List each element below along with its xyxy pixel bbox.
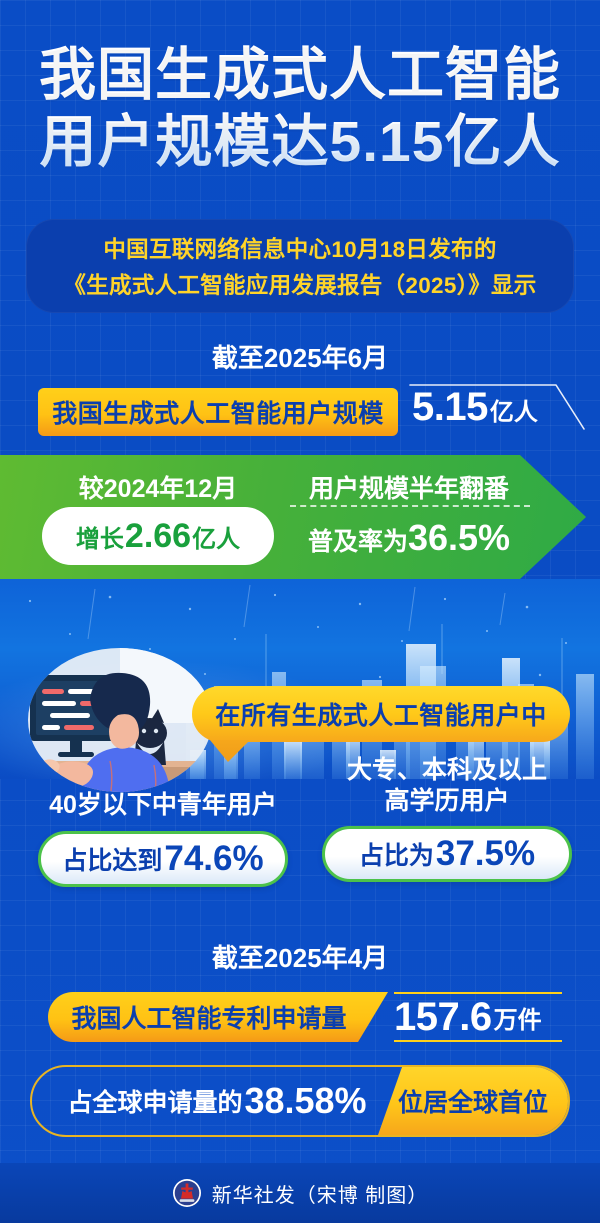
patents-metric-chip: 我国人工智能专利申请量: [48, 992, 388, 1042]
stat-age-pill: 占比达到 74.6%: [38, 831, 288, 887]
patents-share-value: 38.58%: [244, 1080, 366, 1122]
patents-metric-label: 我国人工智能专利申请量: [71, 999, 346, 1035]
stat-edu-pill: 占比为 37.5%: [322, 826, 572, 882]
stat-age-value: 74.6%: [164, 839, 263, 879]
users-value-unit: 亿人: [490, 392, 538, 427]
infographic-poster: 我国生成式人工智能 用户规模达5.15亿人 中国互联网络信息中心10月18日发布…: [0, 0, 600, 1223]
patents-date-label: 截至2025年4月: [0, 938, 600, 975]
source-note-line-1: 中国互联网络信息中心10月18日发布的: [103, 232, 496, 264]
growth-arrow-banner: 较2024年12月 增长 2.66 亿人 用户规模半年翻番 普及率为36.5%: [0, 455, 600, 579]
patents-value-number: 157.6: [394, 995, 492, 1040]
growth-right-prefix: 普及率为: [308, 528, 408, 556]
demographics-bubble-label: 在所有生成式人工智能用户中: [215, 696, 547, 732]
patents-share-prefix: 占全球申请量的: [67, 1083, 242, 1119]
stat-card-education: 大专、本科及以上 高学历用户 占比为 37.5%: [322, 755, 572, 882]
xinhua-logo-icon: [172, 1178, 202, 1208]
stat-age-caption: 40岁以下中青年用户: [38, 790, 288, 821]
stat-card-age: 40岁以下中青年用户 占比达到 74.6%: [38, 790, 288, 887]
stat-edu-caption-line-2: 高学历用户: [384, 787, 509, 815]
title-line-2: 用户规模达5.15亿人: [0, 109, 600, 176]
patents-value-unit: 万件: [494, 1000, 542, 1035]
stat-edu-caption-line-1: 大专、本科及以上: [347, 756, 547, 784]
users-date-label: 截至2025年6月: [0, 338, 600, 375]
header-section: 我国生成式人工智能 用户规模达5.15亿人 中国互联网络信息中心10月18日发布…: [0, 0, 600, 330]
patents-rank-right: 位居全球首位: [378, 1067, 568, 1135]
page-title: 我国生成式人工智能 用户规模达5.15亿人: [0, 42, 600, 177]
patents-rank-label: 位居全球首位: [398, 1083, 548, 1119]
stat-edu-value: 37.5%: [436, 834, 535, 874]
growth-left-title: 较2024年12月: [50, 469, 266, 505]
users-metric-label: 我国生成式人工智能用户规模: [52, 394, 384, 430]
growth-dotted-divider: [290, 505, 530, 507]
growth-right-value: 普及率为36.5%: [286, 517, 532, 559]
stat-age-prefix: 占比达到: [62, 841, 162, 877]
growth-left-prefix: 增长: [76, 519, 124, 554]
users-value-number: 5.15: [412, 385, 488, 430]
growth-right-number: 36.5%: [408, 517, 510, 558]
source-note-line-2: 《生成式人工智能应用发展报告（2025）》显示: [63, 268, 536, 300]
users-metric-chip: 我国生成式人工智能用户规模: [38, 388, 398, 436]
demographics-bubble: 在所有生成式人工智能用户中: [192, 686, 570, 742]
growth-right-title: 用户规模半年翻番: [286, 469, 532, 505]
stat-edu-prefix: 占比为: [359, 836, 434, 872]
footer-credit-bar: 新华社发（宋博 制图）: [0, 1163, 600, 1223]
growth-left-number: 2.66: [125, 517, 191, 556]
footer-credit-text: 新华社发（宋博 制图）: [212, 1179, 429, 1208]
title-line-1: 我国生成式人工智能: [39, 43, 561, 107]
growth-left-unit: 亿人: [192, 519, 240, 554]
growth-left-pill: 增长 2.66 亿人: [42, 507, 274, 565]
stat-edu-caption: 大专、本科及以上 高学历用户: [322, 755, 572, 816]
patents-share-pill: 占全球申请量的 38.58% 位居全球首位: [30, 1065, 570, 1137]
patents-share-left: 占全球申请量的 38.58%: [32, 1067, 402, 1135]
users-value: 5.15 亿人: [412, 385, 538, 430]
patents-value: 157.6 万件: [394, 992, 562, 1042]
source-note-box: 中国互联网络信息中心10月18日发布的 《生成式人工智能应用发展报告（2025）…: [26, 219, 574, 313]
